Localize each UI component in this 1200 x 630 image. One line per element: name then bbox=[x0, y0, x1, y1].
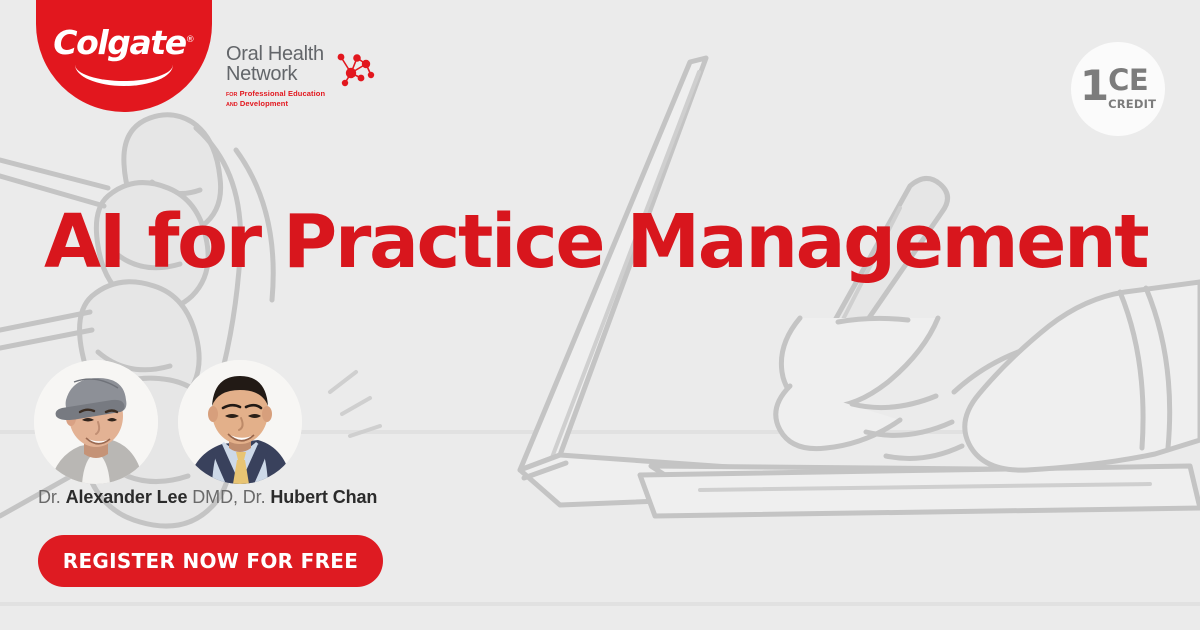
ce-credit-number: 1 bbox=[1080, 67, 1107, 106]
network-sub-line-2: Development bbox=[240, 99, 288, 108]
colgate-logo-mark: Colgate® bbox=[36, 0, 212, 112]
molecule-network-icon bbox=[333, 47, 377, 87]
network-line-1: Oral Health bbox=[226, 44, 325, 64]
ce-credit-badge: 1 CE CREDIT bbox=[1071, 42, 1165, 136]
presenter-avatars bbox=[34, 360, 302, 484]
colgate-oral-health-network-logo: Colgate® Oral Health Network FOR Profess… bbox=[36, 0, 377, 112]
network-line-2: Network bbox=[226, 64, 325, 84]
webinar-promo-banner: .ln { fill:none; stroke:#c4c4c4; stroke-… bbox=[0, 0, 1200, 630]
network-sub-prefix-2: AND bbox=[226, 102, 238, 108]
registered-trademark-icon: ® bbox=[186, 35, 195, 45]
presenter-names: Dr. Alexander Lee DMD, Dr. Hubert Chan bbox=[38, 487, 377, 508]
avatar-hubert-chan bbox=[178, 360, 302, 484]
network-sub-prefix-1: FOR bbox=[226, 92, 237, 98]
ce-credit-label: CREDIT bbox=[1108, 97, 1156, 111]
presenter-1-title: Dr. bbox=[38, 487, 66, 507]
avatar-alexander-lee bbox=[34, 360, 158, 484]
presenter-1-degree: DMD, bbox=[187, 487, 242, 507]
colgate-smile-icon bbox=[75, 64, 173, 86]
register-now-button[interactable]: REGISTER NOW FOR FREE bbox=[38, 535, 383, 587]
ce-credit-unit: CE bbox=[1108, 67, 1156, 95]
presenter-2-title: Dr. bbox=[243, 487, 271, 507]
page-title: AI for Practice Management bbox=[44, 205, 1147, 279]
presenter-1-name: Alexander Lee bbox=[66, 487, 188, 507]
network-subtitle: FOR Professional Education AND Developme… bbox=[226, 89, 325, 109]
colgate-wordmark: Colgate® bbox=[53, 26, 194, 59]
network-sub-line-1: Professional Education bbox=[240, 89, 326, 98]
oral-health-network-lockup: Oral Health Network FOR Professional Edu… bbox=[226, 44, 377, 109]
presenter-2-name: Hubert Chan bbox=[270, 487, 377, 507]
oral-health-network-text: Oral Health Network FOR Professional Edu… bbox=[226, 44, 325, 109]
colgate-brand-text: Colgate bbox=[53, 23, 185, 62]
